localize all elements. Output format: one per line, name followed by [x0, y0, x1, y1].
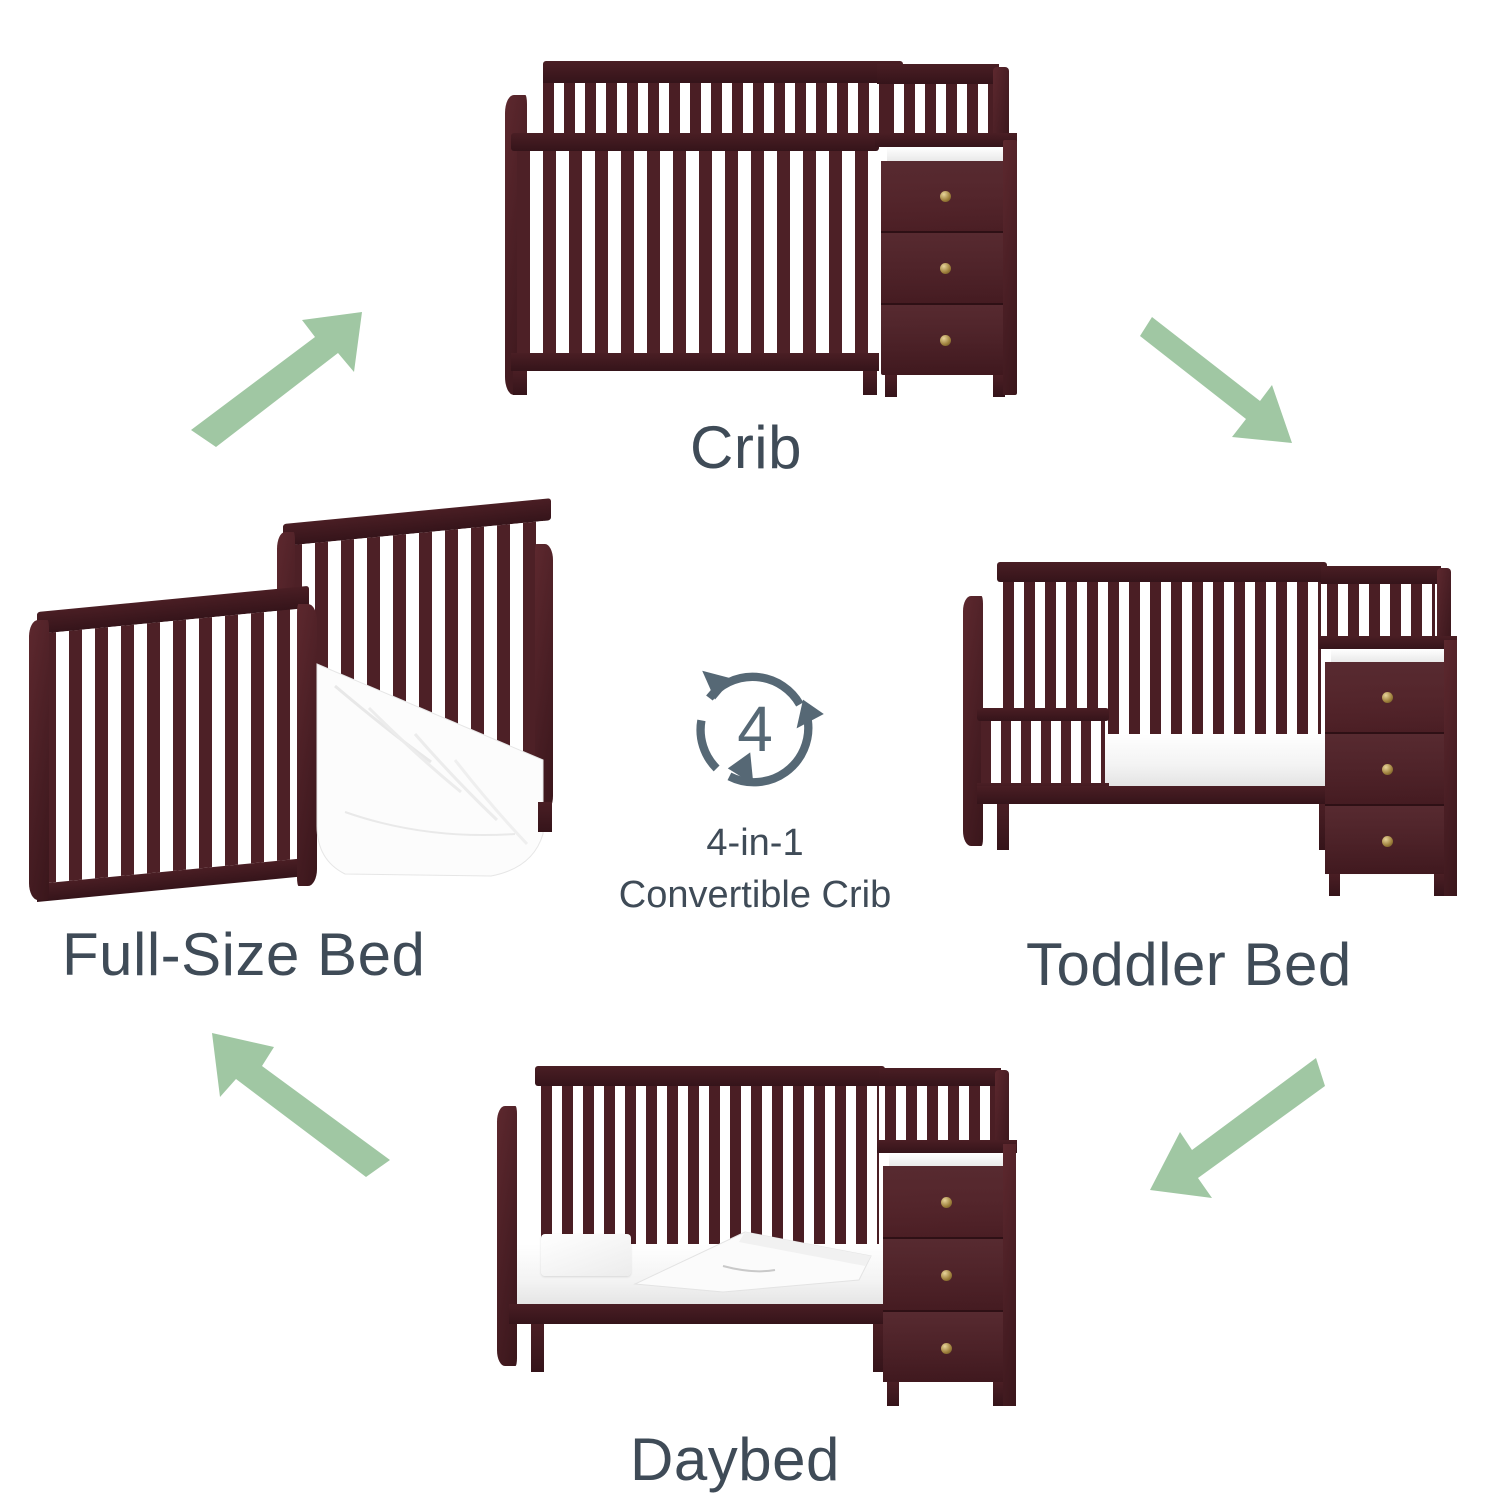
- daybed-changer-right-post: [995, 1070, 1009, 1148]
- toddler-dresser-leg-left: [1329, 874, 1340, 896]
- daybed-changer-counter: [877, 1140, 1017, 1153]
- toddler-drawer-2: [1325, 734, 1449, 806]
- daybed-drawer-1: [883, 1166, 1009, 1239]
- daybed-changer-pad: [889, 1153, 1009, 1166]
- arrow-toddler-to-daybed: [1120, 1050, 1330, 1230]
- fullsize-footboard-left-post: [29, 620, 49, 900]
- crib-front-bottom-rail: [511, 353, 879, 371]
- toddler-left-sleigh-end: [963, 596, 983, 846]
- daybed-drawer-3: [883, 1312, 1009, 1382]
- daybed-leg-left: [531, 1324, 544, 1372]
- crib-front-top-rail: [511, 133, 879, 151]
- daybed-drawer-3-knob[interactable]: [941, 1343, 952, 1354]
- arrow-fullsize-to-crib: [150, 290, 400, 490]
- daybed-with-changer-illustration: [487, 1048, 1037, 1418]
- toddler-drawer-1-knob[interactable]: [1382, 692, 1393, 703]
- toddler-drawer-2-knob[interactable]: [1382, 764, 1393, 775]
- toddler-guard-rail-slats: [981, 721, 1105, 783]
- toddler-back-top-rail: [997, 562, 1327, 582]
- daybed-blanket: [627, 1226, 877, 1296]
- daybed-changer-right-side: [1003, 1144, 1016, 1406]
- daybed-frame-rail: [509, 1304, 889, 1324]
- toddler-changer-counter: [1319, 636, 1457, 649]
- daybed-back-top-rail: [535, 1066, 885, 1086]
- toddler-bed-with-changer-illustration: [955, 548, 1475, 898]
- crib-drawer-3-knob[interactable]: [940, 335, 951, 346]
- crib-back-slats: [543, 83, 903, 139]
- crib-drawer-1: [881, 161, 1009, 233]
- infographic-canvas: Crib: [0, 0, 1510, 1510]
- circular-refresh-4-icon: 4: [675, 650, 835, 810]
- crib-drawer-2: [881, 233, 1009, 305]
- crib-leg-left: [513, 371, 527, 395]
- crib-drawer-1-knob[interactable]: [940, 191, 951, 202]
- badge-number: 4: [737, 693, 773, 765]
- stage-label-full-size-bed: Full-Size Bed: [62, 920, 425, 989]
- daybed-drawer-1-knob[interactable]: [941, 1197, 952, 1208]
- daybed-pillow: [541, 1234, 631, 1276]
- crib-changer-right-side: [1003, 140, 1017, 395]
- center-badge: 4 4-in-1 Convertible Crib: [575, 650, 935, 919]
- arrow-crib-to-toddler: [1140, 295, 1340, 465]
- crib-changer-back-top-rail: [877, 64, 999, 84]
- crib-dresser-leg-left: [885, 375, 897, 397]
- toddler-changer-right-side: [1444, 640, 1457, 896]
- toddler-drawer-3-knob[interactable]: [1382, 836, 1393, 847]
- crib-with-changer-illustration: [495, 45, 1035, 395]
- daybed-drawer-2-knob[interactable]: [941, 1270, 952, 1281]
- toddler-bed-frame-rail: [977, 786, 1335, 804]
- daybed-dresser-leg-left: [887, 1382, 899, 1406]
- badge-line-2: Convertible Crib: [575, 872, 935, 920]
- crib-front-slats: [517, 151, 873, 361]
- crib-changer-back-slats: [883, 84, 993, 139]
- crib-changer-counter: [875, 133, 1017, 147]
- fullsize-rear-leg: [538, 802, 552, 832]
- daybed-changer-back-slats: [885, 1086, 995, 1142]
- daybed-left-sleigh-end: [497, 1106, 517, 1366]
- toddler-leg-left: [997, 804, 1009, 850]
- fullsize-footboard-slats: [43, 608, 303, 883]
- toddler-changer-back-top-rail: [1321, 566, 1441, 584]
- stage-label-daybed: Daybed: [630, 1425, 840, 1494]
- crib-leg-right: [863, 371, 877, 395]
- toddler-changer-back-slats: [1327, 584, 1435, 639]
- toddler-drawer-1: [1325, 662, 1449, 734]
- toddler-guard-rail-top: [977, 708, 1109, 721]
- crib-back-top-rail: [543, 61, 903, 83]
- crib-drawer-2-knob[interactable]: [940, 263, 951, 274]
- full-size-bed-illustration: [15, 512, 565, 912]
- badge-line-1: 4-in-1: [575, 820, 935, 868]
- toddler-drawer-3: [1325, 806, 1449, 876]
- daybed-drawer-2: [883, 1239, 1009, 1312]
- daybed-back-slats: [541, 1086, 879, 1246]
- fullsize-footboard: [37, 586, 309, 902]
- stage-label-crib: Crib: [690, 413, 802, 482]
- toddler-changer-right-post: [1437, 568, 1451, 643]
- toddler-changer-pad: [1331, 649, 1449, 662]
- crib-drawer-3: [881, 305, 1009, 375]
- crib-changer-pad: [887, 147, 1009, 161]
- stage-label-toddler-bed: Toddler Bed: [1026, 930, 1352, 999]
- daybed-changer-back-top-rail: [879, 1068, 1001, 1086]
- arrow-daybed-to-fullsize: [190, 1005, 420, 1205]
- fullsize-comforter: [305, 642, 565, 892]
